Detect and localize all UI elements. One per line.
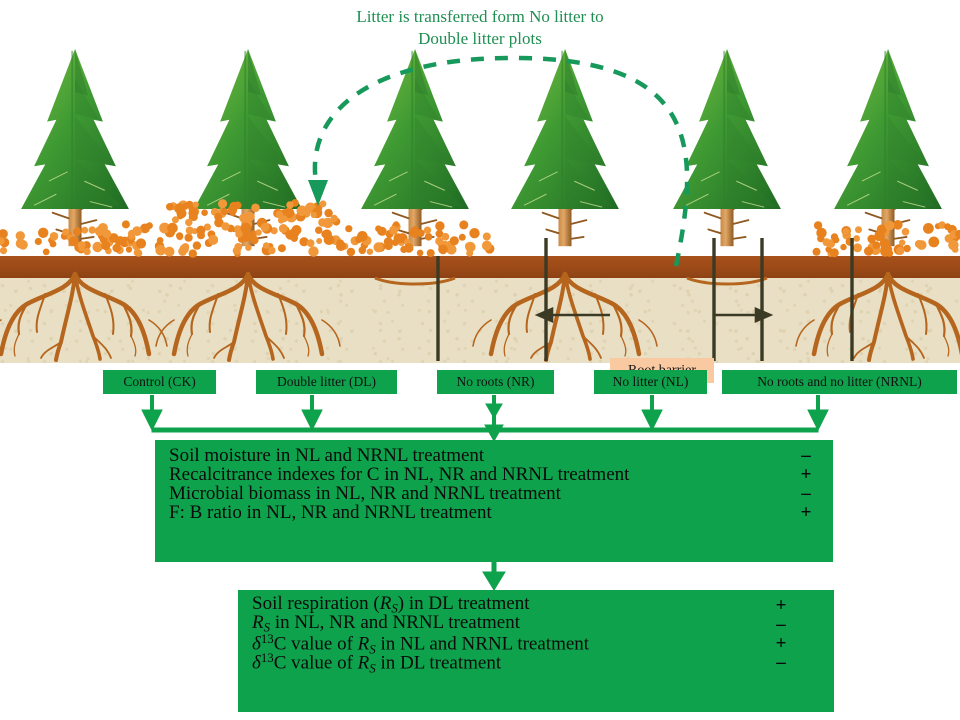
findings-box-primary: Soil moisture in NL and NRNL treatment–R… [155,440,833,562]
findings-box-respiration: Soil respiration (RS) in DL treatment+RS… [238,590,834,712]
diagram-canvas: Litter is transferred form No litter to … [0,0,960,720]
findings-rows-respiration: Soil respiration (RS) in DL treatment+RS… [238,590,834,672]
finding-text: F: B ratio in NL, NR and NRNL treatment [169,498,492,527]
findings-rows-primary: Soil moisture in NL and NRNL treatment–R… [155,440,833,522]
finding-row: δ13C value of RS in DL treatment– [252,653,834,672]
finding-text: δ13C value of RS in DL treatment [252,643,501,682]
finding-sign: + [795,498,817,527]
finding-sign: – [770,648,792,677]
finding-row: F: B ratio in NL, NR and NRNL treatment+ [169,503,833,522]
